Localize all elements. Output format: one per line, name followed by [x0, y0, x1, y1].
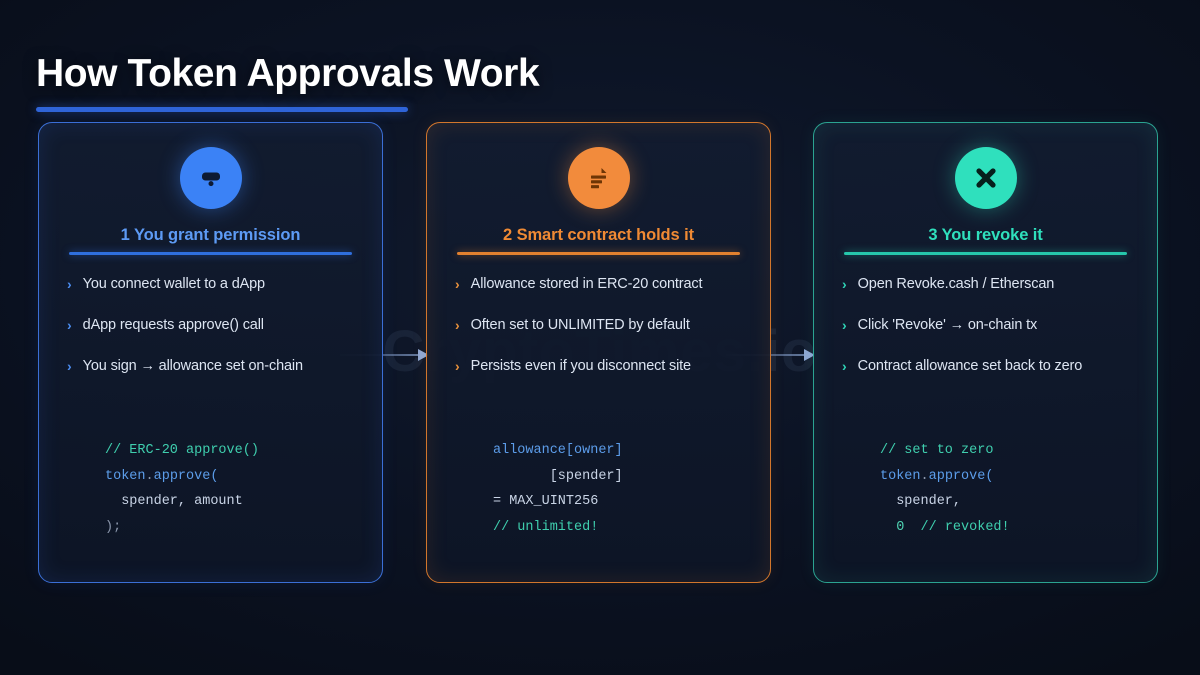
code-line: = MAX_UINT256: [493, 489, 752, 515]
list-item-label: Persists even if you disconnect site: [471, 357, 691, 375]
code-token: approve(: [929, 469, 994, 484]
code-token: .: [921, 469, 929, 484]
code-token: // set to zero: [880, 443, 993, 458]
bullet-list: › Open Revoke.cash / Etherscan › Click '…: [832, 275, 1139, 376]
code-token: 0: [880, 520, 921, 535]
chevron-right-icon: ›: [842, 316, 847, 335]
card-heading-block: 3 You revoke it: [832, 226, 1139, 255]
list-item-label: You connect wallet to a dApp: [83, 275, 265, 293]
icon-badge-row: [445, 147, 752, 209]
card-heading-underline: [69, 252, 352, 255]
code-token: token: [880, 469, 921, 484]
list-item: › Click 'Revoke' → on-chain tx: [842, 316, 1129, 335]
code-line: // ERC-20 approve(): [105, 438, 364, 464]
card-heading-block: 2 Smart contract holds it: [445, 226, 752, 255]
chevron-right-icon: ›: [455, 275, 460, 294]
page-title: How Token Approvals Work: [36, 54, 539, 95]
code-line: );: [105, 515, 364, 541]
chevron-right-icon: ›: [842, 357, 847, 376]
code-line: [spender]: [493, 464, 752, 490]
card-heading: 1 You grant permission: [57, 226, 364, 245]
list-item: › Open Revoke.cash / Etherscan: [842, 275, 1129, 294]
code-line: 0 // revoked!: [880, 515, 1139, 541]
list-item-label: Click 'Revoke' → on-chain tx: [858, 316, 1037, 334]
card-number: 1: [121, 226, 134, 244]
card-heading: 2 Smart contract holds it: [445, 226, 752, 245]
chevron-right-icon: ›: [842, 275, 847, 294]
step-card-1: 1 You grant permission › You connect wal…: [38, 122, 383, 583]
card-heading-underline: [844, 252, 1127, 255]
code-line: token.approve(: [105, 464, 364, 490]
card-heading-label: You grant permission: [134, 226, 300, 244]
card-heading-underline: [457, 252, 740, 255]
code-line: allowance[owner]: [493, 438, 752, 464]
list-item-label: dApp requests approve() call: [83, 316, 264, 334]
code-token: spender, amount: [105, 494, 243, 509]
code-token: token: [105, 469, 146, 484]
code-token: );: [105, 520, 121, 535]
chevron-right-icon: ›: [455, 316, 460, 335]
code-line: token.approve(: [880, 464, 1139, 490]
code-snippet: // set to zerotoken.approve( spender, 0 …: [832, 428, 1139, 540]
slide-canvas: CryptoTimes.io How Token Approvals Work …: [0, 0, 1200, 675]
contract-document-icon: [568, 147, 630, 209]
code-token: // revoked!: [921, 520, 1010, 535]
code-token: = MAX_UINT256: [493, 494, 598, 509]
code-token: spender,: [880, 494, 961, 509]
title-underline: [36, 107, 408, 112]
code-token: // unlimited!: [493, 520, 598, 535]
card-heading-label: Smart contract holds it: [517, 226, 694, 244]
card-heading-label: You revoke it: [942, 226, 1043, 244]
icon-badge-row: [57, 147, 364, 209]
chevron-right-icon: ›: [67, 316, 72, 335]
code-token: .: [146, 469, 154, 484]
list-item: › dApp requests approve() call: [67, 316, 354, 335]
list-item: › You sign → allowance set on-chain: [67, 357, 354, 376]
chevron-right-icon: ›: [455, 357, 460, 376]
code-snippet: allowance[owner] [spender]= MAX_UINT256/…: [445, 428, 752, 540]
list-item: › Contract allowance set back to zero: [842, 357, 1129, 376]
code-line: // unlimited!: [493, 515, 752, 541]
step-card-3: 3 You revoke it › Open Revoke.cash / Eth…: [813, 122, 1158, 583]
list-item-label: Open Revoke.cash / Etherscan: [858, 275, 1055, 293]
card-heading: 3 You revoke it: [832, 226, 1139, 245]
card-number: 2: [503, 226, 517, 244]
bullet-list: › Allowance stored in ERC-20 contract › …: [445, 275, 752, 376]
code-token: allowance[owner]: [493, 443, 623, 458]
card-heading-block: 1 You grant permission: [57, 226, 364, 255]
code-line: spender, amount: [105, 489, 364, 515]
code-token: approve(: [154, 469, 219, 484]
step-card-2: 2 Smart contract holds it › Allowance st…: [426, 122, 771, 583]
list-item: › Often set to UNLIMITED by default: [455, 316, 742, 335]
list-item-label: You sign → allowance set on-chain: [83, 357, 303, 375]
revoke-cross-icon: [955, 147, 1017, 209]
list-item-label: Allowance stored in ERC-20 contract: [471, 275, 703, 293]
icon-badge-row: [832, 147, 1139, 209]
code-line: spender,: [880, 489, 1139, 515]
chevron-right-icon: ›: [67, 275, 72, 294]
chevron-right-icon: ›: [67, 357, 72, 376]
list-item-label: Contract allowance set back to zero: [858, 357, 1082, 375]
code-line: // set to zero: [880, 438, 1139, 464]
code-token: [spender]: [493, 469, 623, 484]
card-number: 3: [928, 226, 941, 244]
list-item: › You connect wallet to a dApp: [67, 275, 354, 294]
list-item-label: Often set to UNLIMITED by default: [471, 316, 690, 334]
list-item: › Allowance stored in ERC-20 contract: [455, 275, 742, 294]
list-item: › Persists even if you disconnect site: [455, 357, 742, 376]
wallet-icon: [180, 147, 242, 209]
code-token: // ERC-20 approve(): [105, 443, 259, 458]
code-snippet: // ERC-20 approve()token.approve( spende…: [57, 428, 364, 540]
title-block: How Token Approvals Work: [36, 54, 539, 112]
bullet-list: › You connect wallet to a dApp › dApp re…: [57, 275, 364, 376]
